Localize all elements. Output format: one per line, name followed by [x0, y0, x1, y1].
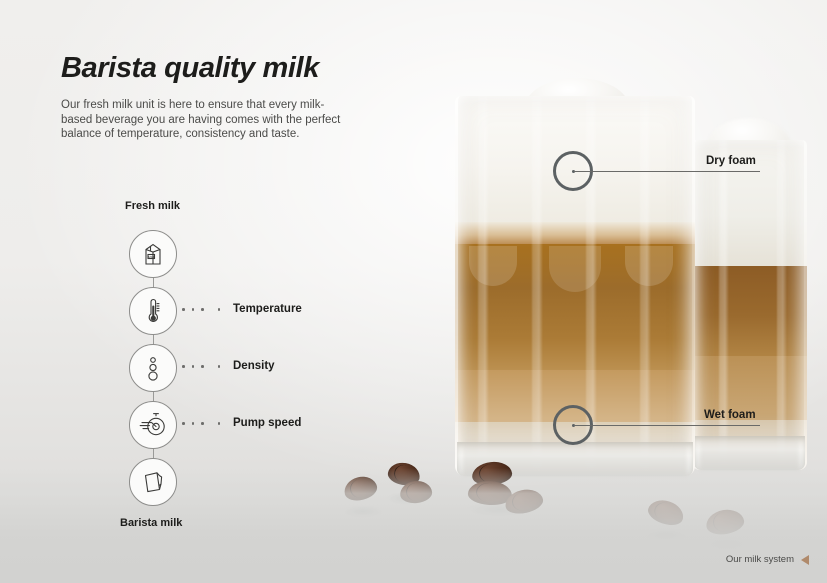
milk-carton-icon: MILK: [141, 241, 165, 267]
flow-label-temperature: Temperature: [233, 303, 302, 315]
page-title: Barista quality milk: [61, 52, 391, 85]
wet-foam-underline: [698, 425, 760, 426]
flow-node-pump-speed[interactable]: [129, 401, 177, 449]
dotted-connector-pump-speed: [182, 422, 220, 425]
flow-end-label: Barista milk: [120, 517, 380, 529]
milk-jug-icon: [140, 469, 166, 495]
wet-foam-label: Wet foam: [704, 409, 756, 421]
glass-base-back: [694, 436, 805, 470]
layer-espresso-back: [692, 266, 807, 356]
bean-shadow: [704, 537, 750, 551]
flow-node-density[interactable]: [129, 344, 177, 392]
bean-shadow: [644, 528, 688, 542]
dotted-connector-density: [182, 365, 220, 368]
flow-chain: MILK: [120, 224, 380, 506]
density-dots-icon: [144, 354, 162, 382]
footer-label: Our milk system: [726, 554, 794, 565]
page-subtitle: Our fresh milk unit is here to ensure th…: [61, 98, 349, 142]
flow-node-fresh-milk[interactable]: MILK: [129, 230, 177, 278]
flow-node-barista-milk[interactable]: [129, 458, 177, 506]
coffee-bean: [645, 496, 686, 529]
flow-node-temperature[interactable]: [129, 287, 177, 335]
pump-speed-icon: [139, 412, 167, 438]
coffee-bean: [704, 507, 746, 537]
svg-text:MILK: MILK: [148, 255, 155, 259]
footer-link[interactable]: Our milk system: [726, 554, 809, 565]
thermometer-icon: [142, 298, 164, 324]
flow-label-density: Density: [233, 360, 275, 372]
flow-label-pump-speed: Pump speed: [233, 417, 301, 429]
header-block: Barista quality milk Our fresh milk unit…: [61, 52, 391, 142]
arrow-left-icon: [801, 555, 809, 565]
milk-process-flow: Fresh milk MILK: [120, 200, 380, 529]
dotted-connector-temperature: [182, 308, 220, 311]
layer-foam-coffee-blend: [455, 222, 695, 244]
dry-foam-label: Dry foam: [706, 155, 756, 167]
dry-foam-underline: [700, 171, 760, 172]
flow-start-label: Fresh milk: [125, 200, 380, 212]
